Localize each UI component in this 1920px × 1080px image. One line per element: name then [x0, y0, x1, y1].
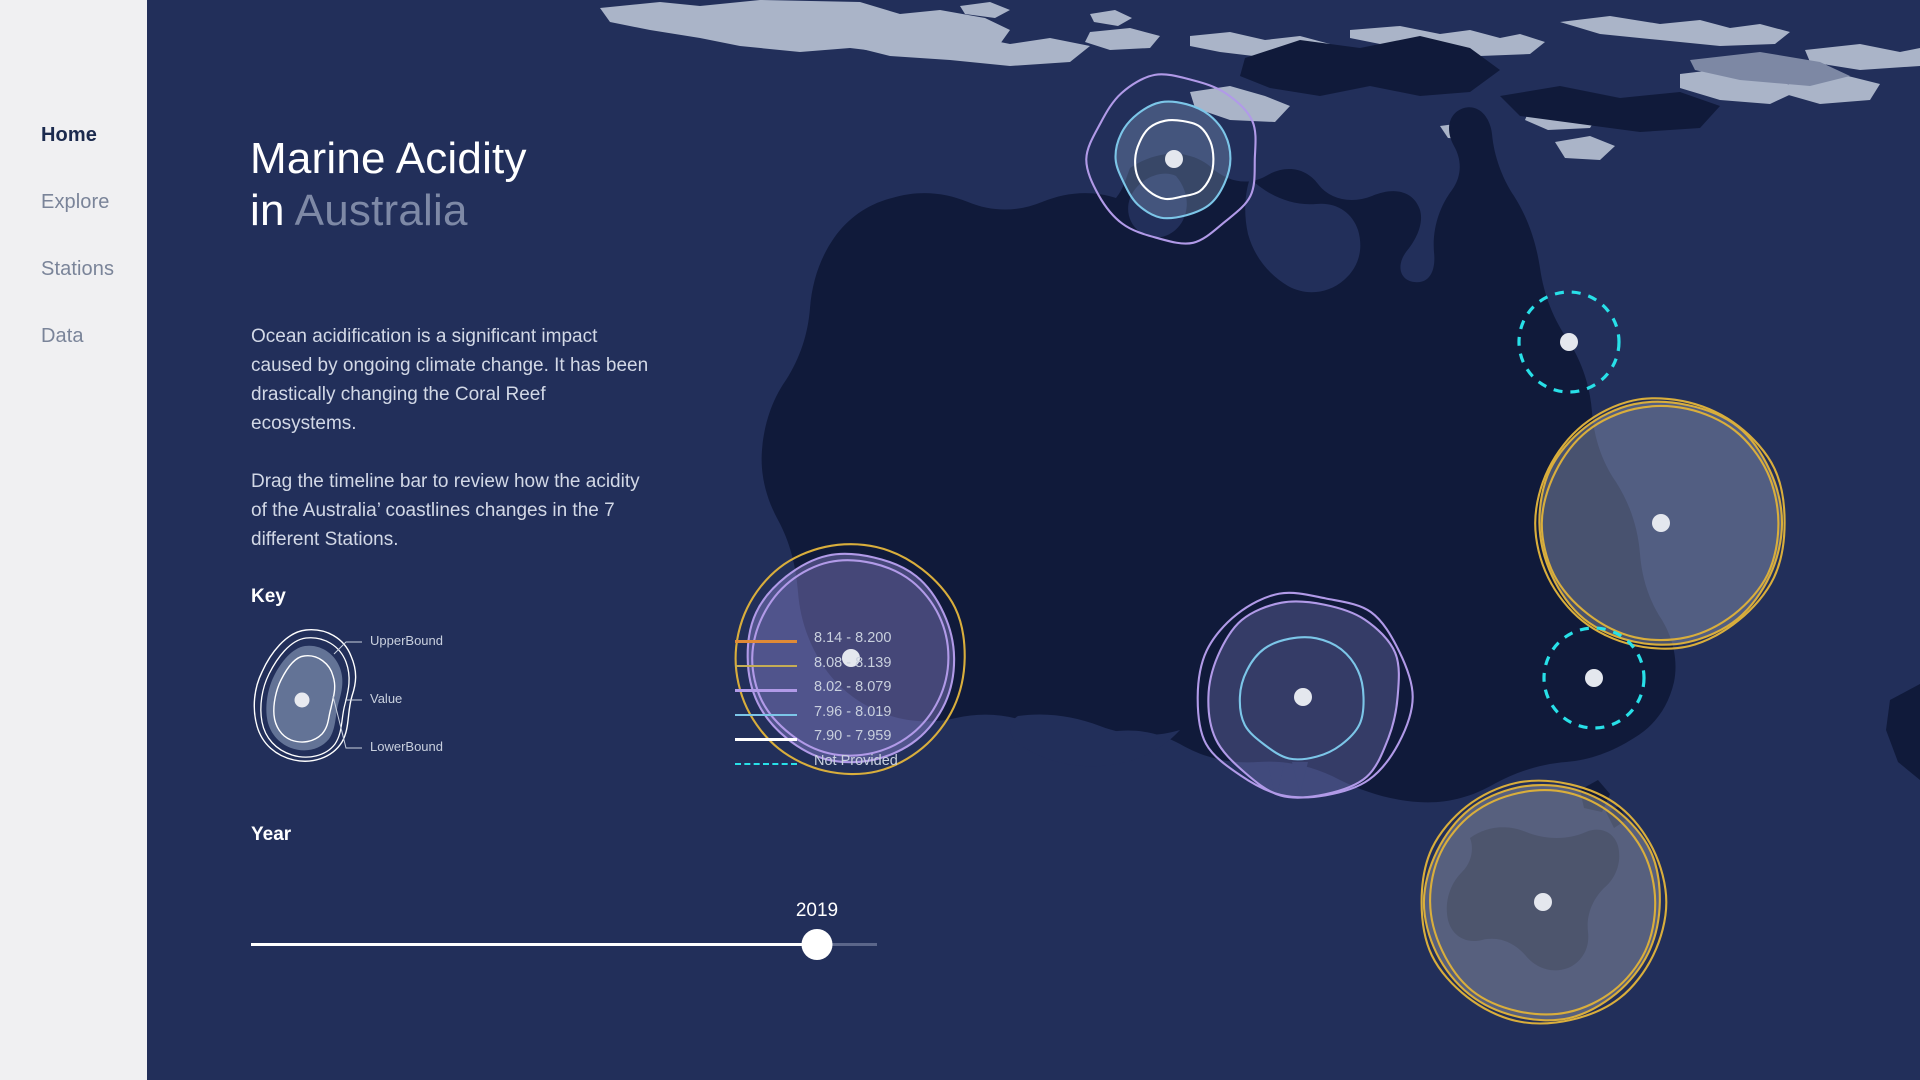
- page-title-line2-muted: Australia: [295, 186, 468, 235]
- app-root: Home Explore Stations Data Marine Acidit…: [0, 0, 1920, 1080]
- station-center-dot[interactable]: [1165, 150, 1183, 168]
- sidebar-item-stations[interactable]: Stations: [41, 258, 114, 281]
- page-title: Marine Acidity in Australia: [250, 133, 527, 237]
- legend-label: 8.02 - 8.079: [814, 679, 891, 695]
- legend-row[interactable]: 7.96 - 8.019: [735, 704, 935, 729]
- page-title-line1: Marine Acidity: [250, 134, 527, 183]
- station-brisbane-east[interactable]: [1535, 398, 1784, 648]
- key-label-value: Value: [370, 691, 402, 706]
- station-center-dot[interactable]: [1585, 669, 1603, 687]
- year-slider-value: 2019: [796, 900, 838, 922]
- legend-row[interactable]: 8.02 - 8.079: [735, 679, 935, 704]
- legend-label: Not Provided: [814, 753, 898, 769]
- station-center-dot[interactable]: [1652, 514, 1670, 532]
- key-heading: Key: [251, 586, 286, 608]
- legend-label: 8.08 - 8.139: [814, 655, 891, 671]
- legend-swatch: [735, 665, 797, 668]
- key-label-lower-bound: LowerBound: [370, 739, 443, 754]
- legend-swatch: [735, 689, 797, 692]
- intro-paragraph-2: Drag the timeline bar to review how the …: [251, 467, 651, 554]
- legend-label: 7.96 - 8.019: [814, 704, 891, 720]
- slider-track-filled[interactable]: [251, 943, 817, 946]
- legend-swatch: [735, 640, 797, 643]
- key-leader-upper: [334, 642, 362, 654]
- legend-list: 8.14 - 8.2008.08 - 8.1398.02 - 8.0797.96…: [735, 630, 935, 777]
- legend-row[interactable]: 8.08 - 8.139: [735, 655, 935, 680]
- legend-row[interactable]: 7.90 - 7.959: [735, 728, 935, 753]
- page-title-line2-prefix: in: [250, 186, 295, 235]
- legend-swatch: [735, 714, 797, 717]
- timeline-heading: Year: [251, 824, 291, 846]
- sidebar-item-explore[interactable]: Explore: [41, 191, 110, 214]
- key-center-dot: [295, 693, 310, 708]
- year-slider[interactable]: 2019: [251, 900, 877, 980]
- legend-label: 7.90 - 7.959: [814, 728, 891, 744]
- station-center-dot[interactable]: [1534, 893, 1552, 911]
- key-label-upper-bound: UpperBound: [370, 633, 443, 648]
- legend-swatch: [735, 738, 797, 741]
- station-center-dot[interactable]: [1560, 333, 1578, 351]
- intro-paragraph-1: Ocean acidification is a significant imp…: [251, 322, 651, 438]
- station-center-dot[interactable]: [1294, 688, 1312, 706]
- key-diagram-svg: [250, 620, 670, 770]
- legend-swatch: [735, 763, 797, 765]
- sidebar-item-home[interactable]: Home: [41, 124, 97, 147]
- legend-row[interactable]: Not Provided: [735, 753, 935, 778]
- sidebar-item-data[interactable]: Data: [41, 325, 84, 348]
- sidebar-nav: Home Explore Stations Data: [0, 0, 147, 1080]
- slider-handle[interactable]: [802, 929, 833, 960]
- info-panel: Marine Acidity in Australia Ocean acidif…: [250, 0, 850, 1080]
- legend-row[interactable]: 8.14 - 8.200: [735, 630, 935, 655]
- legend-label: 8.14 - 8.200: [814, 630, 891, 646]
- key-diagram: UpperBound Value LowerBound: [250, 620, 670, 770]
